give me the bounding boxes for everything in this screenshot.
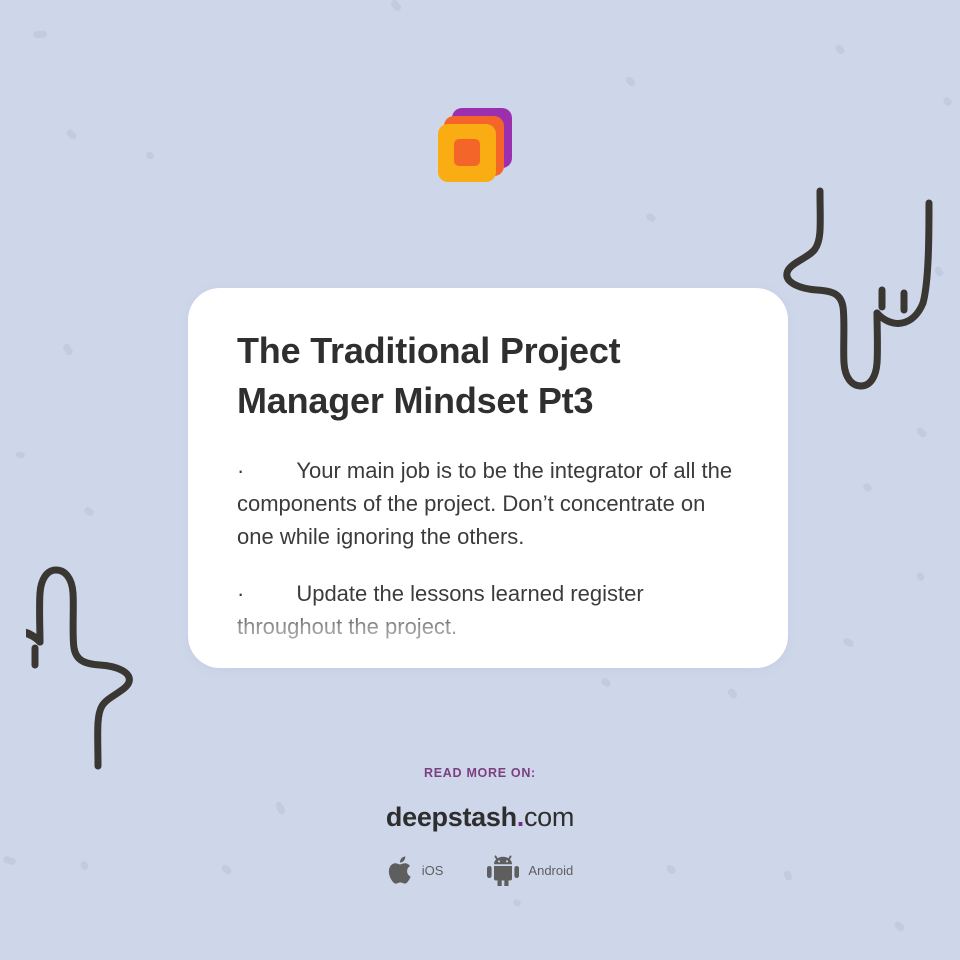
page-title: The Traditional Project Manager Mindset … — [237, 326, 697, 426]
confetti-speck — [624, 75, 637, 88]
apple-glyph — [387, 855, 413, 886]
confetti-speck — [862, 482, 873, 493]
deepstash-wordmark[interactable]: deepstash.com — [0, 802, 960, 833]
social-card-canvas: The Traditional Project Manager Mindset … — [0, 0, 960, 960]
store-badge-ios[interactable]: iOS — [387, 855, 444, 886]
confetti-speck — [942, 96, 953, 107]
confetti-speck — [645, 212, 657, 224]
bullet-marker: · — [237, 458, 244, 483]
hand-line-art — [26, 560, 211, 785]
bullet-marker: · — [237, 581, 244, 606]
android-icon — [487, 855, 519, 886]
android-glyph — [487, 855, 519, 886]
confetti-speck — [83, 506, 95, 518]
store-label-android: Android — [528, 863, 573, 878]
card-content: The Traditional Project Manager Mindset … — [188, 288, 788, 643]
wordmark-dot: . — [517, 802, 524, 832]
card-paragraph-1: ·Your main job is to be the integrator o… — [237, 454, 744, 553]
confetti-speck — [15, 451, 25, 459]
confetti-speck — [834, 43, 846, 55]
paragraph-text: Your main job is to be the integrator of… — [237, 458, 732, 549]
footer: READ MORE ON: deepstash.com iOS — [0, 766, 960, 886]
confetti-speck — [390, 0, 403, 12]
store-badge-android[interactable]: Android — [487, 855, 573, 886]
pointing-hand-bottom-left-illustration — [26, 560, 211, 785]
confetti-speck — [145, 151, 155, 160]
confetti-speck — [893, 920, 906, 933]
confetti-speck — [842, 637, 855, 648]
card-paragraph-2: ·Update the lessons learned register thr… — [237, 577, 744, 643]
confetti-speck — [915, 426, 928, 439]
confetti-speck — [915, 571, 926, 582]
store-label-ios: iOS — [422, 863, 444, 878]
stacked-squares-icon — [428, 104, 520, 196]
confetti-speck — [33, 31, 47, 39]
confetti-speck — [600, 677, 612, 689]
idea-card: The Traditional Project Manager Mindset … — [188, 288, 788, 668]
confetti-speck — [726, 687, 738, 700]
store-badges: iOS — [0, 855, 960, 886]
paragraph-text: Update the lessons learned register thro… — [237, 581, 644, 639]
wordmark-tld: com — [524, 802, 574, 832]
apple-icon — [387, 855, 413, 886]
wordmark-name: deepstash — [386, 802, 517, 832]
confetti-speck — [512, 898, 522, 907]
confetti-speck — [62, 343, 74, 357]
confetti-speck — [65, 128, 78, 141]
confetti-speck — [933, 265, 944, 277]
read-more-label: READ MORE ON: — [0, 766, 960, 780]
deepstash-logo — [428, 104, 520, 196]
